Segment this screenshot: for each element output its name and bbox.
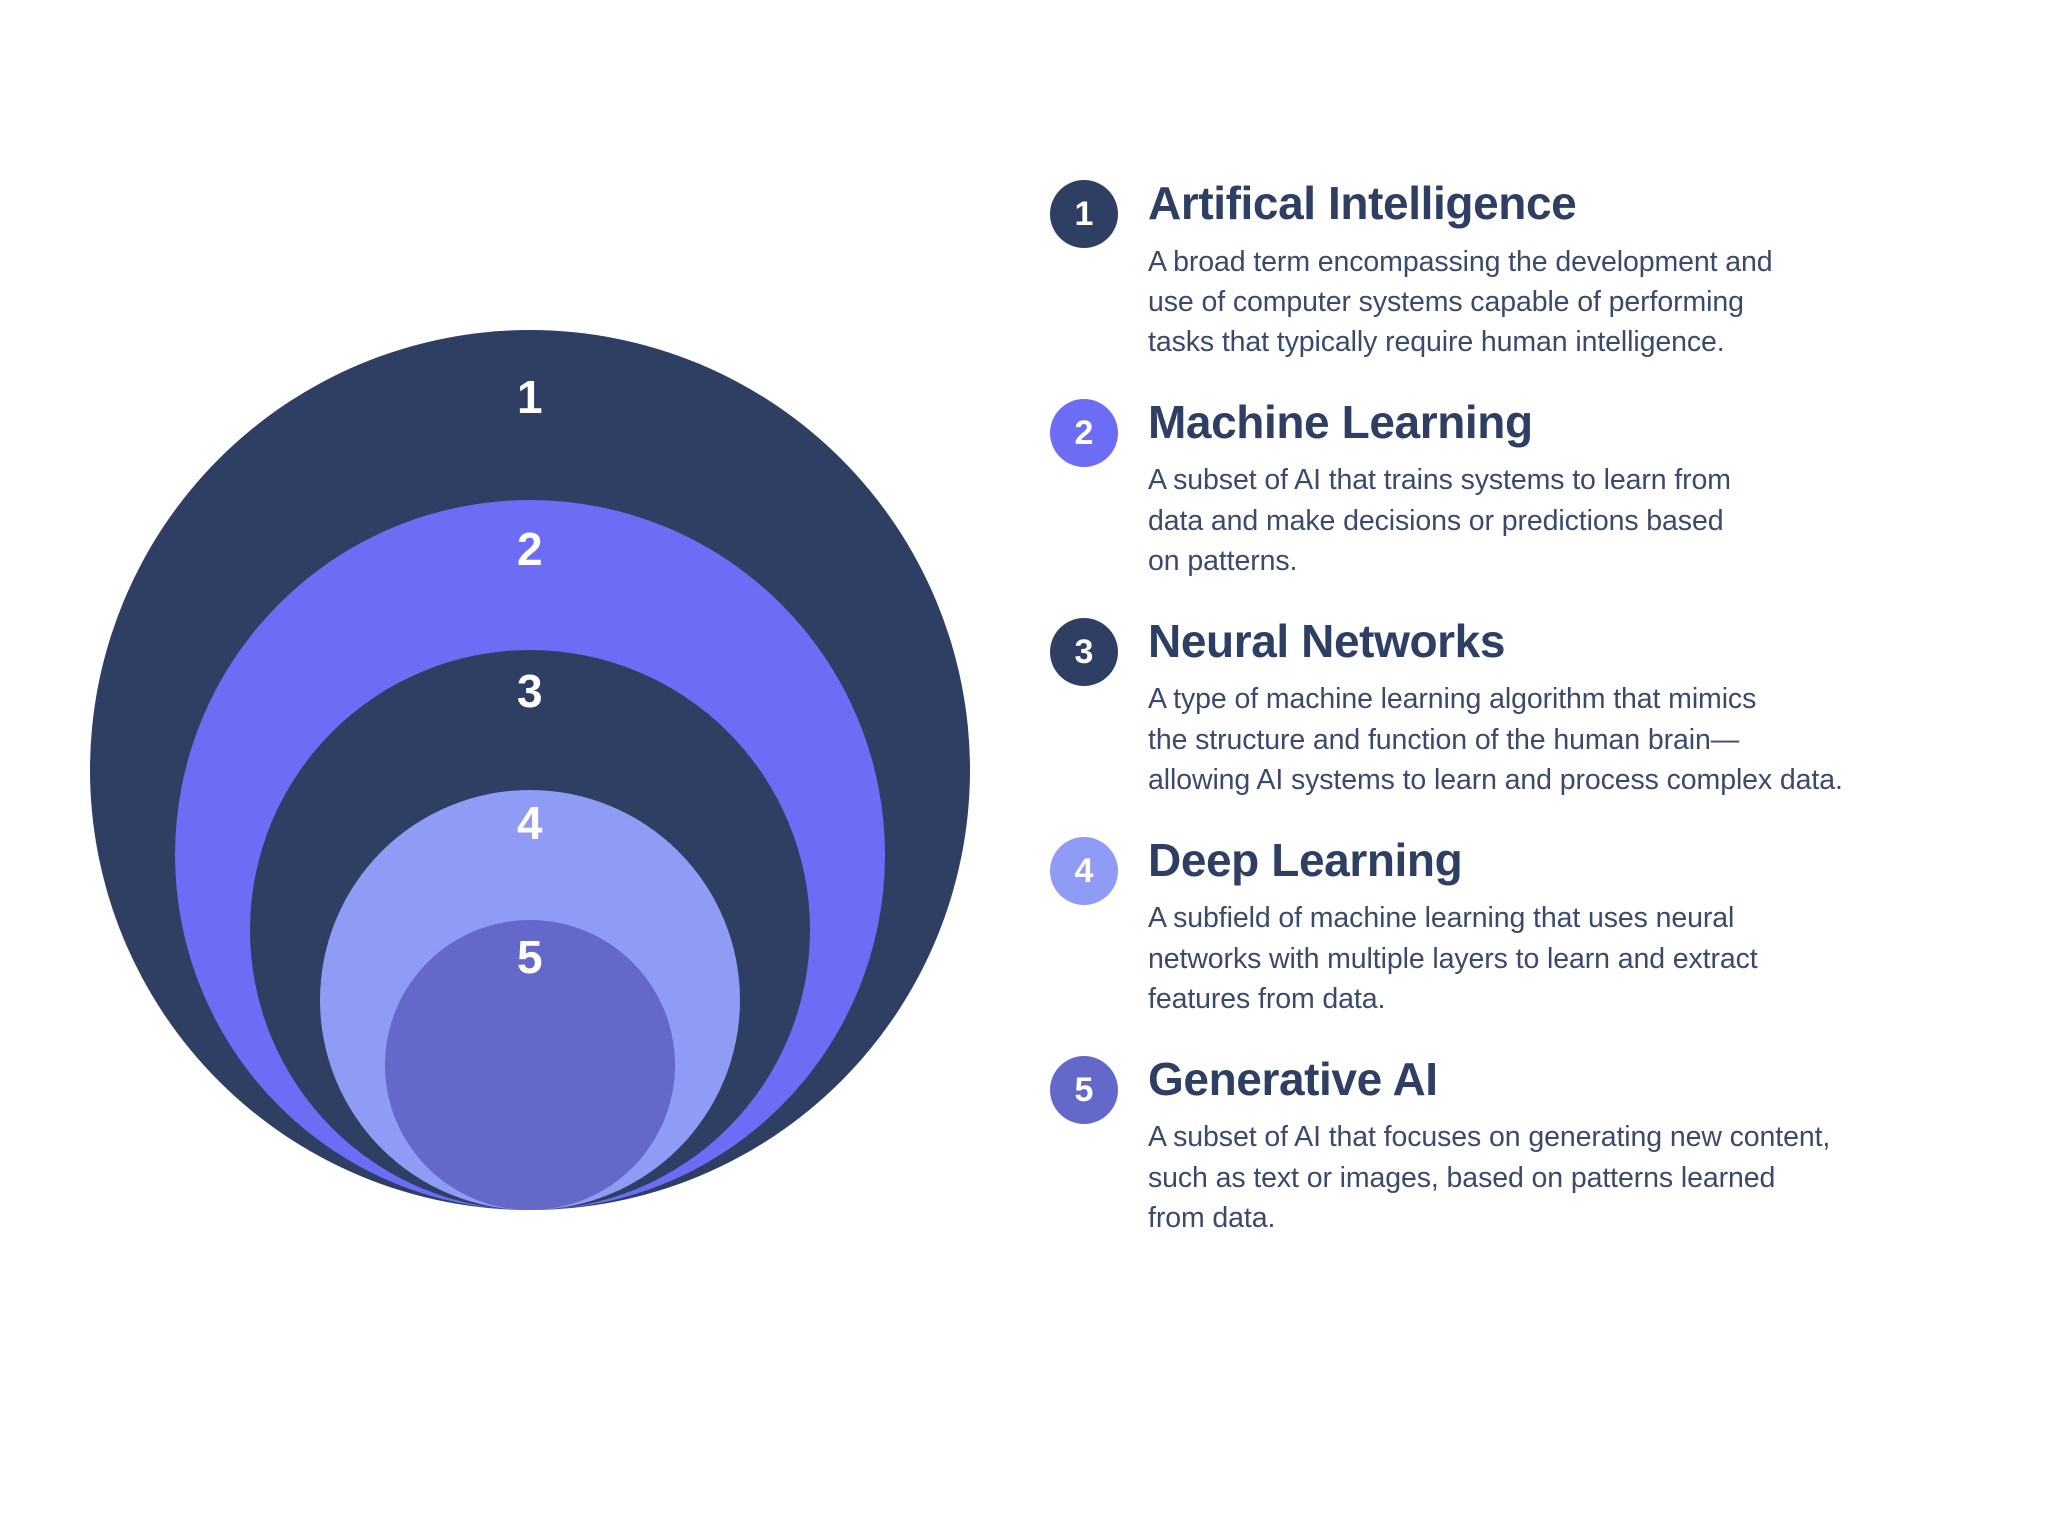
item-title: Deep Learning	[1148, 835, 1990, 887]
item-badge-1: 1	[1050, 180, 1118, 248]
item-description: A type of machine learning algorithm tha…	[1148, 679, 1990, 800]
circle-label-5: 5	[517, 934, 543, 980]
item-description: A subset of AI that trains systems to le…	[1148, 460, 1990, 581]
item-description: A broad term encompassing the developmen…	[1148, 242, 1990, 363]
item-description-line: such as text or images, based on pattern…	[1148, 1158, 1990, 1198]
item-description-line: on patterns.	[1148, 541, 1990, 581]
item-badge-5: 5	[1050, 1056, 1118, 1124]
item-badge-4: 4	[1050, 837, 1118, 905]
ai-concepts-infographic: 12345 1Artifical IntelligenceA broad ter…	[0, 0, 2048, 1536]
concept-list: 1Artifical IntelligenceA broad term enco…	[1030, 178, 1990, 1239]
item-description-line: the structure and function of the human …	[1148, 720, 1990, 760]
item-description-line: A broad term encompassing the developmen…	[1148, 242, 1990, 282]
list-item: 2Machine LearningA subset of AI that tra…	[1030, 397, 1990, 582]
item-description-line: A subfield of machine learning that uses…	[1148, 898, 1990, 938]
circle-label-2: 2	[517, 526, 543, 572]
item-title: Artifical Intelligence	[1148, 178, 1990, 230]
item-description: A subfield of machine learning that uses…	[1148, 898, 1990, 1019]
circle-label-1: 1	[517, 374, 543, 420]
item-title: Generative AI	[1148, 1054, 1990, 1106]
circle-label-4: 4	[517, 800, 543, 846]
item-description-line: use of computer systems capable of perfo…	[1148, 282, 1990, 322]
nested-circles-diagram: 12345	[90, 330, 970, 1210]
list-item: 5Generative AIA subset of AI that focuse…	[1030, 1054, 1990, 1239]
item-description: A subset of AI that focuses on generatin…	[1148, 1117, 1990, 1238]
list-item: 4Deep LearningA subfield of machine lear…	[1030, 835, 1990, 1020]
list-item: 1Artifical IntelligenceA broad term enco…	[1030, 178, 1990, 363]
item-description-line: A subset of AI that focuses on generatin…	[1148, 1117, 1990, 1157]
item-description-line: data and make decisions or predictions b…	[1148, 501, 1990, 541]
item-badge-2: 2	[1050, 399, 1118, 467]
list-item: 3Neural NetworksA type of machine learni…	[1030, 616, 1990, 801]
item-title: Neural Networks	[1148, 616, 1990, 668]
item-description-line: A type of machine learning algorithm tha…	[1148, 679, 1990, 719]
item-description-line: features from data.	[1148, 979, 1990, 1019]
item-description-line: from data.	[1148, 1198, 1990, 1238]
item-description-line: networks with multiple layers to learn a…	[1148, 939, 1990, 979]
item-title: Machine Learning	[1148, 397, 1990, 449]
item-description-line: allowing AI systems to learn and process…	[1148, 760, 1990, 800]
circle-label-3: 3	[517, 668, 543, 714]
item-description-line: tasks that typically require human intel…	[1148, 322, 1990, 362]
item-badge-3: 3	[1050, 618, 1118, 686]
item-description-line: A subset of AI that trains systems to le…	[1148, 460, 1990, 500]
